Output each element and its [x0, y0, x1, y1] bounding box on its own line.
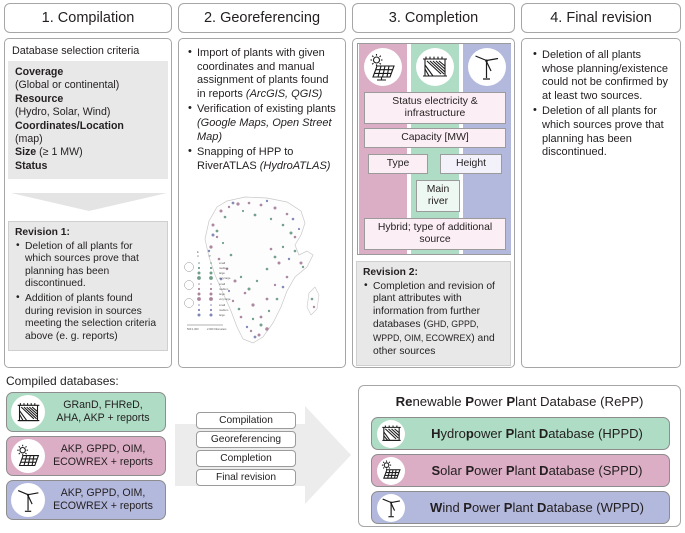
criteria-list: Coverage (Global or continental) Resourc… [8, 61, 168, 179]
column-panel-compilation: Database selection criteria Coverage (Gl… [4, 38, 172, 368]
svg-text:small: small [219, 282, 225, 286]
final-revision-bullets: Deletion of all plants whose planning/ex… [532, 49, 672, 162]
wind-turbine-icon [468, 48, 506, 86]
revision-1-title: Revision 1: [15, 227, 161, 240]
criteria-label-coordinates: Coordinates/Location [15, 120, 124, 132]
process-step-compilation[interactable]: Compilation [196, 412, 296, 429]
solar-panel-icon [11, 439, 45, 473]
column-header-final-revision: 4. Final revision [521, 3, 681, 33]
criteria-label-coverage: Coverage [15, 66, 63, 78]
attribute-diagram: Status electricity & infrastructure Capa… [357, 43, 511, 255]
dam-icon [416, 48, 454, 86]
wind-turbine-icon [11, 483, 45, 517]
svg-text:500 1.000: 500 1.000 [187, 327, 199, 331]
repp-row-sppd-label: Solar Power Plant Database (SPPD) [405, 463, 669, 478]
repp-row-wppd[interactable]: Wind Power Plant Database (WPPD) [371, 491, 670, 524]
revision-1-block: Revision 1: Deletion of all plants for w… [8, 221, 168, 351]
compiled-db-hydro: GRanD, FHReD,AHA, AKP + reports [6, 392, 166, 432]
attribute-main-river: Main river [416, 180, 460, 212]
revision-1-item: Deletion of all plants for which sources… [15, 241, 161, 291]
africa-map-graphic: EUP smallmediumlargevery large small [183, 189, 343, 365]
svg-text:small: small [219, 261, 225, 265]
column-panel-georeferencing: Import of plants with given coordinates … [178, 38, 346, 368]
attribute-hybrid: Hybrid; type of additional source [364, 218, 506, 250]
svg-text:large: large [219, 292, 225, 296]
criteria-label-status: Status [15, 160, 47, 172]
attribute-capacity: Capacity [MW] [364, 128, 506, 148]
dam-icon [377, 420, 405, 448]
criteria-detail-resource: (Hydro, Solar, Wind) [15, 106, 161, 119]
criteria-label-size: Size [15, 146, 36, 158]
criteria-label-resource: Resource [15, 93, 63, 105]
process-step-georeferencing[interactable]: Georeferencing [196, 431, 296, 448]
criteria-detail-coordinates: (map) [15, 133, 161, 146]
column-panel-final-revision: Deletion of all plants whose planning/ex… [521, 38, 681, 368]
column-header-completion: 3. Completion [352, 3, 515, 33]
wind-turbine-icon [377, 494, 405, 522]
svg-text:very large: very large [219, 297, 231, 301]
svg-text:very large: very large [219, 276, 231, 280]
criteria-detail-coverage: (Global or continental) [15, 79, 161, 92]
down-chevron-icon [11, 191, 167, 213]
revision-2-item: Completion and revision of plant attribu… [363, 281, 504, 359]
attribute-status: Status electricity & infrastructure [364, 92, 506, 124]
final-revision-item: Deletion of all plants whose planning/ex… [532, 49, 672, 103]
svg-text:P: P [209, 254, 211, 258]
svg-text:large: large [219, 313, 225, 317]
georef-bullet-verification: Verification of existing plants (Google … [187, 103, 337, 144]
repp-title: Renewable Power Plant Database (RePP) [359, 394, 680, 409]
process-step-completion[interactable]: Completion [196, 450, 296, 467]
dam-icon [11, 395, 45, 429]
repp-row-wppd-label: Wind Power Plant Database (WPPD) [405, 500, 669, 515]
repp-row-hppd[interactable]: Hydropower Plant Database (HPPD) [371, 417, 670, 450]
column-header-compilation: 1. Compilation [4, 3, 172, 33]
repp-row-sppd[interactable]: Solar Power Plant Database (SPPD) [371, 454, 670, 487]
compiled-databases-title: Compiled databases: [6, 374, 119, 388]
svg-text:U: U [197, 254, 199, 258]
solar-panel-icon [364, 48, 402, 86]
revision-2-block: Revision 2: Completion and revision of p… [356, 261, 511, 366]
process-step-final-revision[interactable]: Final revision [196, 469, 296, 486]
attribute-type: Type [368, 154, 428, 174]
revision-2-title: Revision 2: [363, 267, 504, 280]
svg-text:2.000 Kilometers: 2.000 Kilometers [207, 327, 227, 331]
repp-row-hppd-label: Hydropower Plant Database (HPPD) [405, 426, 669, 441]
revision-1-item: Addition of plants found during revision… [15, 293, 161, 343]
criteria-detail-size: (≥ 1 MW) [39, 146, 82, 158]
column-header-georeferencing: 2. Georeferencing [178, 3, 346, 33]
compiled-db-solar-text: AKP, GPPD, OIM,ECOWREX + reports [45, 443, 165, 469]
solar-panel-icon [377, 457, 405, 485]
svg-text:large: large [219, 271, 225, 275]
svg-text:medium: medium [219, 308, 228, 312]
attribute-height: Height [440, 154, 502, 174]
flowchart-diagram: 1. Compilation 2. Georeferencing 3. Comp… [0, 0, 685, 533]
criteria-subtitle: Database selection criteria [5, 39, 171, 61]
repp-panel: Renewable Power Plant Database (RePP) Hy… [358, 385, 681, 527]
compiled-db-wind-text: AKP, GPPD, OIM,ECOWREX + reports [45, 487, 165, 513]
final-revision-item: Deletion of all plants for which sources… [532, 105, 672, 159]
georef-bullet-snapping: Snapping of HPP to RiverATLAS (HydroATLA… [187, 146, 337, 173]
georef-bullet-import: Import of plants with given coordinates … [187, 47, 337, 101]
svg-text:E: E [197, 250, 199, 254]
svg-text:small: small [219, 303, 225, 307]
column-panel-completion: Status electricity & infrastructure Capa… [352, 38, 515, 368]
compiled-db-hydro-text: GRanD, FHReD,AHA, AKP + reports [45, 399, 165, 425]
svg-text:medium: medium [219, 266, 228, 270]
svg-text:medium: medium [219, 287, 228, 291]
compiled-db-wind: AKP, GPPD, OIM,ECOWREX + reports [6, 480, 166, 520]
compiled-db-solar: AKP, GPPD, OIM,ECOWREX + reports [6, 436, 166, 476]
georeferencing-bullets: Import of plants with given coordinates … [187, 47, 337, 175]
